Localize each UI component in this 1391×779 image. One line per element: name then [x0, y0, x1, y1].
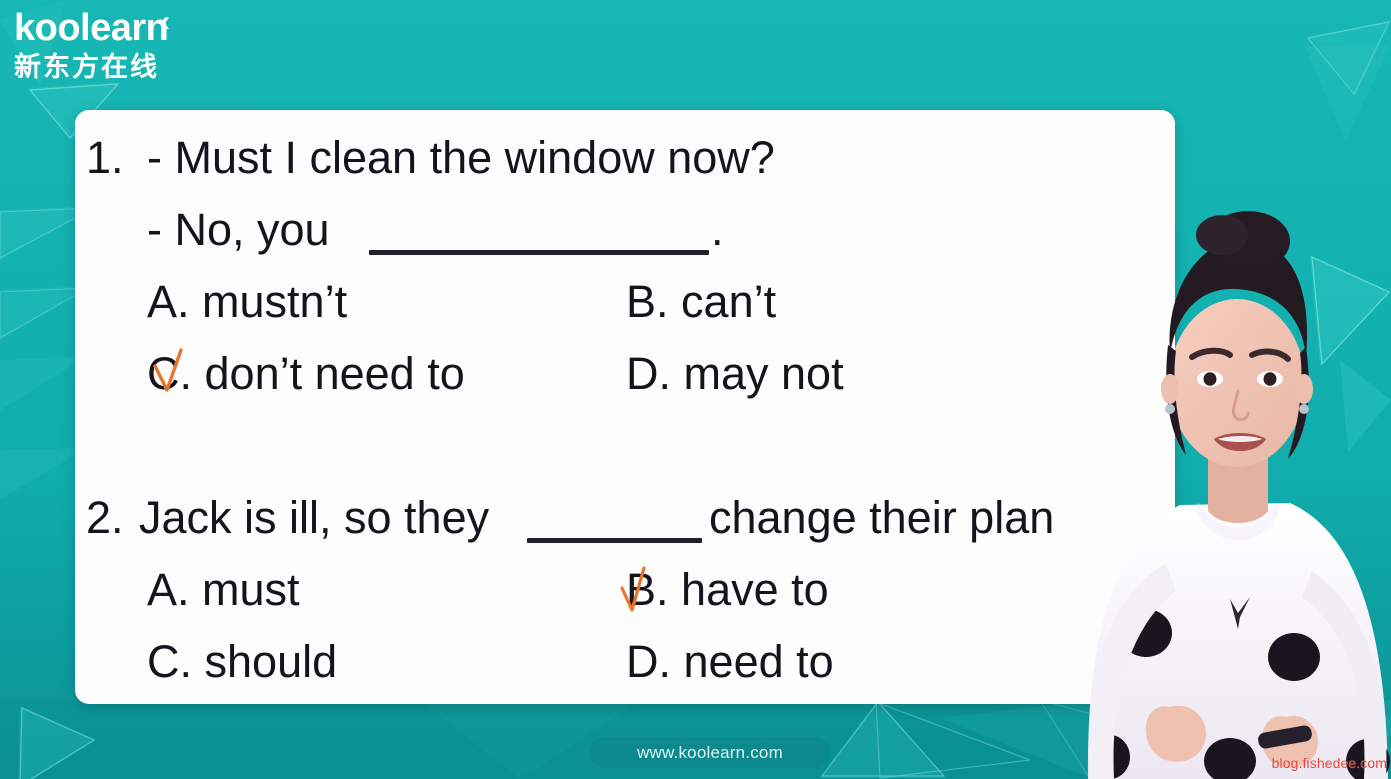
question-1-option-b-text: can’t: [681, 276, 776, 327]
presenter-video-overlay: [1080, 205, 1391, 779]
question-1-line-2-period: .: [711, 204, 724, 256]
question-2-blank: [527, 538, 702, 543]
question-1-option-d-key: D.: [626, 348, 671, 399]
logo-chinese-name: 新东方在线: [14, 50, 194, 84]
question-1-option-a-text: mustn’t: [202, 276, 347, 327]
question-2-option-d-text: need to: [684, 636, 834, 687]
question-1-option-b[interactable]: B. can’t: [626, 276, 776, 328]
question-2-option-c[interactable]: C. should: [147, 636, 337, 688]
question-2-option-b-text: have to: [681, 564, 829, 615]
question-2-number: 2.: [86, 492, 124, 544]
question-2-option-d[interactable]: D. need to: [626, 636, 834, 688]
question-1-option-b-key: B.: [626, 276, 669, 327]
question-2-option-d-key: D.: [626, 636, 671, 687]
slide-stage: koolearn ‹ 新东方在线 1. - Must I clean the w…: [0, 0, 1391, 779]
question-2-option-b-key: B.: [626, 564, 669, 615]
question-1-line-2: - No, you: [147, 204, 330, 256]
question-1-number: 1.: [86, 132, 124, 184]
question-2-stem-after: change their plan: [709, 492, 1054, 544]
question-1-option-a-key: A.: [147, 276, 190, 327]
question-2-option-c-key: C.: [147, 636, 192, 687]
question-2-option-c-text: should: [205, 636, 338, 687]
question-1-option-c-text: don’t need to: [205, 348, 465, 399]
watermark-text: blog.fishedee.com: [1272, 755, 1387, 771]
question-1-option-c-key: C.: [147, 348, 192, 399]
question-2-option-a[interactable]: A. must: [147, 564, 300, 616]
url-pill: www.koolearn.com: [590, 737, 830, 768]
url-text: www.koolearn.com: [637, 743, 783, 763]
question-1-option-d[interactable]: D. may not: [626, 348, 844, 400]
question-card: 1. - Must I clean the window now? - No, …: [75, 110, 1175, 704]
question-1-line-1: - Must I clean the window now?: [147, 132, 775, 184]
question-1-option-a[interactable]: A. mustn’t: [147, 276, 347, 328]
question-2-stem-before: Jack is ill, so they: [139, 492, 489, 544]
logo-chevron-icon: ‹: [160, 12, 170, 32]
koolearn-logo: koolearn ‹ 新东方在线: [14, 8, 194, 92]
question-1-option-c[interactable]: C. don’t need to: [147, 348, 465, 400]
question-2-option-a-text: must: [202, 564, 300, 615]
question-2-option-a-key: A.: [147, 564, 190, 615]
question-1-option-d-text: may not: [684, 348, 844, 399]
question-2-option-b[interactable]: B. have to: [626, 564, 829, 616]
question-1-blank: [369, 250, 709, 255]
